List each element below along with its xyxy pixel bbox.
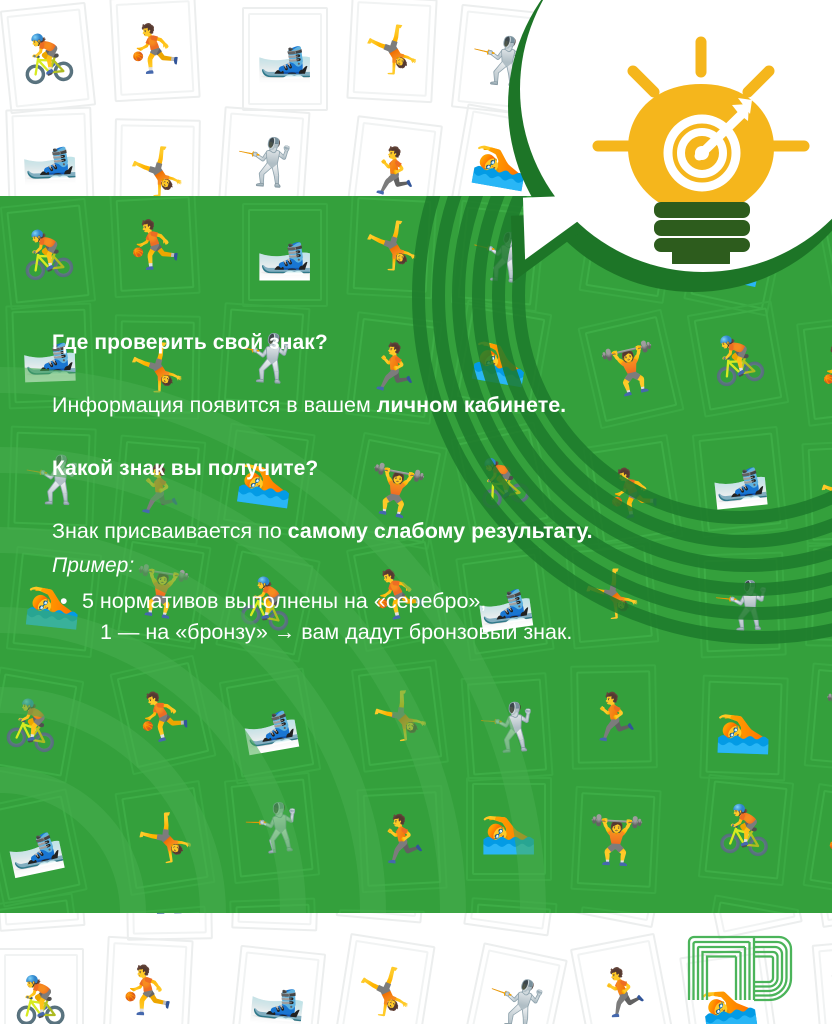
pictogram-glyph-icon: 🤸 [348, 0, 435, 101]
paragraph-personal-account: Информация появится в вашем личном кабин… [52, 392, 752, 420]
pictogram-tile: 🤺 [224, 772, 320, 884]
pictogram-tile: ⛹ [796, 313, 832, 427]
pictogram-glyph-icon: 🏋 [806, 665, 832, 772]
decorative-arc-ring [0, 607, 306, 913]
pictogram-tile: 🎿 [242, 7, 328, 111]
pictogram-glyph-icon: 🚴 [0, 950, 82, 1024]
poster-root: 🏃🏊🏋🚴⛹🎿🤸🤺🏃🏊🏋🚴⛹🎿🤸🤺🏃🏊🏋🚴⛹🎿🤸🤺🏃🏊🏋🚴⛹🎿🤸🤺🏃🏊🏋🚴⛹🎿🤸🤺… [0, 0, 832, 1024]
pictogram-glyph-icon: ⛹ [111, 0, 198, 100]
pictogram-tile: 🤸 [801, 904, 832, 913]
pictogram-glyph-icon: ⛹ [111, 196, 198, 296]
pictogram-tile: 🤸 [346, 196, 437, 299]
pictogram-tile: 🎿 [0, 788, 88, 908]
pictogram-glyph-icon: 🏋 [339, 911, 423, 913]
pictogram-tile: ⛹ [802, 783, 832, 899]
pictogram-tile: 🚴 [698, 774, 794, 886]
pictogram-glyph-icon: 🏃 [358, 787, 445, 891]
pictogram-tile: 🚴 [0, 666, 84, 783]
pictogram-tile: ⛹ [569, 906, 667, 913]
pictogram-tile: 🎿 [230, 945, 326, 1024]
pictogram-tile: 🏋 [337, 909, 425, 913]
paragraph-1-plain: Информация появится в вашем [52, 393, 377, 417]
pictogram-glyph-icon: 🤸 [337, 935, 434, 1024]
pictogram-tile: ⛹ [109, 196, 200, 298]
pictogram-tile: 🎿 [697, 894, 800, 913]
pictogram-glyph-icon: 🚴 [700, 776, 792, 884]
pictogram-glyph-icon: 🤸 [353, 661, 447, 770]
pictogram-glyph-icon: 🤸 [117, 782, 214, 894]
pictogram-glyph-icon: 🎿 [244, 9, 326, 109]
pictogram-tile: 🤸 [114, 780, 215, 896]
pictogram-glyph-icon: ⛹ [798, 315, 832, 424]
pictogram-glyph-icon: 🎿 [232, 947, 324, 1024]
pictogram-glyph-icon: ⛹ [112, 657, 214, 773]
pictogram-glyph-icon: 🎿 [221, 670, 319, 783]
pictogram-glyph-icon: 🤺 [463, 674, 552, 779]
pictogram-glyph-icon: 🤸 [804, 906, 832, 913]
pictogram-glyph-icon: 🏊 [231, 900, 316, 913]
list-item: • 5 нормативов выполнены на «серебро», [52, 586, 752, 617]
pictogram-glyph-icon: 🏋 [814, 940, 832, 1024]
pictogram-tile: 🚴 [464, 897, 557, 913]
pictogram-tile: 🏊 [699, 675, 789, 782]
paragraph-2-plain: Знак присваивается по [52, 519, 288, 543]
content-block: Где проверить свой знак? Информация появ… [52, 330, 752, 648]
bullet-text-silver: 5 нормативов выполнены на «серебро», [82, 589, 486, 613]
pictogram-tile: 🏋 [570, 786, 661, 894]
paragraph-1-bold: личном кабинете. [377, 393, 566, 417]
pictogram-glyph-icon: 🤸 [803, 441, 832, 545]
pictogram-tile: 🏃 [570, 933, 674, 1024]
pictogram-tile: 🏃 [356, 785, 447, 893]
pictogram-glyph-icon: 🏃 [572, 666, 656, 767]
pictogram-tile: ⛹ [109, 0, 200, 102]
pictogram-tile: 🤸 [334, 933, 435, 1024]
pictogram-glyph-icon: 🤺 [0, 895, 85, 913]
pictogram-tile: 🚴 [0, 2, 96, 114]
pictogram-glyph-icon: 🤺 [226, 774, 318, 882]
pictogram-glyph-icon: 🤸 [348, 196, 435, 297]
example-bullet-list: • 5 нормативов выполнены на «серебро», [52, 586, 752, 617]
pictogram-tile: 🏋 [812, 937, 832, 1024]
pictogram-tile: 🤺 [0, 893, 87, 913]
pictogram-tile: 🏊 [466, 777, 552, 881]
pictogram-glyph-icon: 🏃 [122, 908, 212, 913]
pictogram-glyph-icon: 🚴 [2, 200, 94, 308]
decorative-arc-ring [0, 767, 146, 913]
pictogram-glyph-icon: ⛹ [104, 938, 191, 1024]
pictogram-tile: 🏃 [805, 542, 832, 647]
paragraph-2-bold: самому слабому результату. [288, 519, 593, 543]
pictogram-glyph-icon: 🏃 [572, 935, 672, 1024]
pictogram-tile: 🏃 [120, 905, 215, 913]
pictogram-glyph-icon: 🎿 [0, 791, 85, 906]
pictogram-tile: 🤺 [462, 942, 568, 1024]
pictogram-glyph-icon: ⛹ [805, 785, 832, 897]
example-label: Пример: [52, 552, 752, 579]
pictogram-tile: 🎿 [219, 667, 322, 784]
bullet-dot-icon: • [60, 586, 68, 617]
pictogram-glyph-icon: 🏃 [807, 544, 832, 645]
bullet-text-bronze: 1 — на «бронзу» → вам дадут бронзовый зн… [52, 617, 752, 648]
pictogram-glyph-icon: 🚴 [0, 669, 82, 782]
pictogram-glyph-icon: ⛹ [571, 908, 665, 913]
decorative-arc-ring [0, 687, 226, 913]
pictogram-glyph-icon: 🚴 [2, 4, 94, 112]
pictogram-tile: 🎿 [242, 203, 328, 307]
pictogram-tile: ⛹ [102, 936, 193, 1024]
pictogram-tile: 🏊 [229, 898, 319, 913]
gto-logo [684, 928, 796, 1002]
pictogram-tile: 🚴 [0, 198, 96, 310]
pictogram-glyph-icon: 🎿 [699, 897, 797, 913]
lightbulb-target-icon [586, 34, 816, 264]
pictogram-tile: 🤸 [346, 0, 437, 103]
pictogram-tile: 🤺 [460, 672, 553, 782]
pictogram-tile: 🤸 [801, 439, 832, 547]
heading-which-badge: Какой знак вы получите? [52, 456, 752, 482]
pictogram-tile: 🚴 [0, 948, 84, 1024]
pictogram-tile: 🏋 [804, 662, 832, 773]
bulb-base [654, 202, 750, 264]
pictogram-glyph-icon: 🎿 [244, 205, 326, 305]
pictogram-glyph-icon: 🤺 [465, 945, 566, 1024]
pictogram-glyph-icon: 🏋 [572, 788, 659, 892]
pictogram-tile: ⛹ [109, 655, 216, 776]
heading-where-to-check: Где проверить свой знак? [52, 330, 752, 356]
pictogram-glyph-icon: 🚴 [467, 899, 556, 913]
pictogram-tile: 🏃 [570, 664, 658, 769]
paragraph-weakest-result: Знак присваивается по самому слабому рез… [52, 518, 752, 546]
pictogram-glyph-icon: 🏊 [468, 779, 550, 879]
pictogram-tile: 🤸 [351, 659, 449, 773]
pictogram-glyph-icon: 🏊 [701, 677, 786, 780]
